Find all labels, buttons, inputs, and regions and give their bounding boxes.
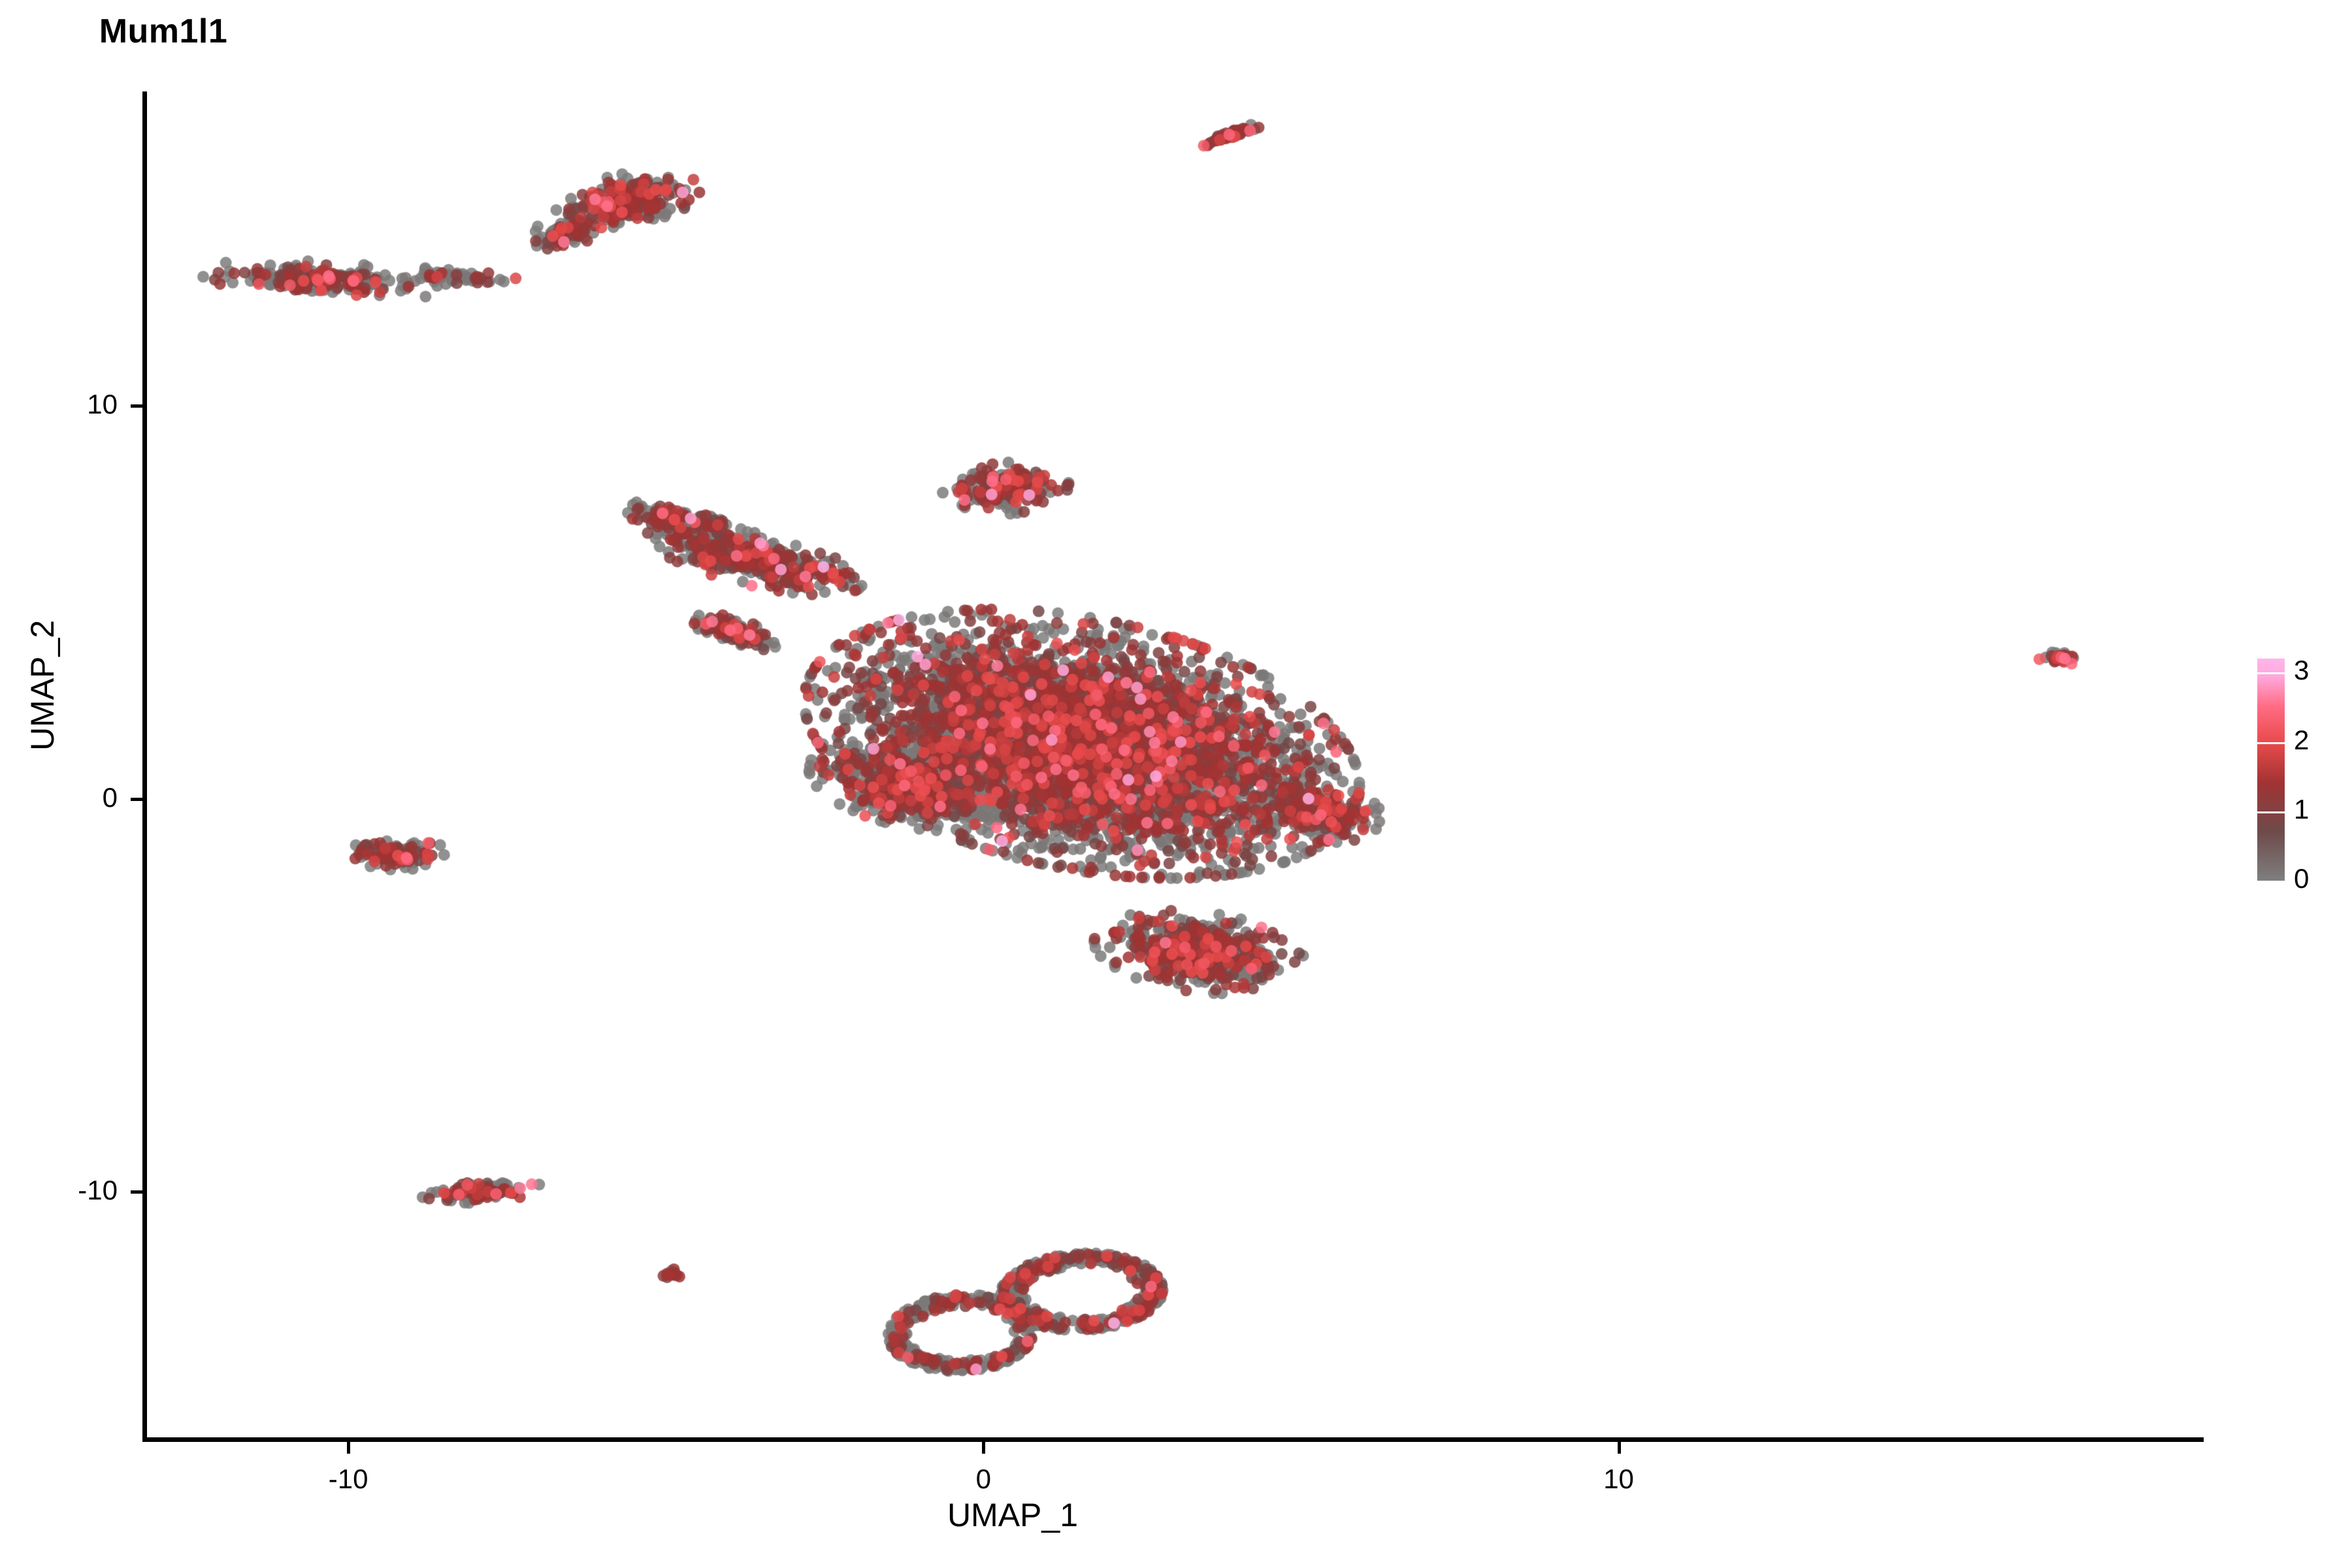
y-tick-mark — [131, 798, 142, 801]
x-tick-label: -10 — [270, 1463, 427, 1495]
plot-panel — [145, 91, 2203, 1439]
x-axis-title: UMAP_1 — [862, 1496, 1163, 1534]
colorbar-gradient — [2257, 659, 2285, 881]
x-axis-line — [142, 1437, 2204, 1442]
y-tick-mark — [131, 404, 142, 408]
y-axis-title: UMAP_2 — [24, 515, 61, 855]
page-title: Mum1l1 — [0, 12, 1339, 51]
colorbar-tick-mark — [2257, 811, 2285, 813]
x-tick-mark — [1618, 1442, 1621, 1454]
colorbar-tick-label: 0 — [2294, 865, 2309, 892]
colorbar-tick-label: 3 — [2294, 657, 2309, 684]
colorbar-tick-label: 1 — [2294, 796, 2309, 823]
y-tick-label: -10 — [0, 1175, 118, 1206]
colorbar-tick-mark — [2257, 742, 2285, 744]
colorbar-legend: 0123 — [2257, 659, 2349, 894]
colorbar-tick-mark — [2257, 672, 2285, 674]
umap-feature-plot: Mum1l1 -10010 -10010 UMAP_2 UMAP_1 0123 — [0, 0, 2352, 1568]
x-tick-mark — [347, 1442, 350, 1454]
x-tick-mark — [982, 1442, 985, 1454]
x-tick-label: 10 — [1541, 1463, 1697, 1495]
y-axis-line — [142, 91, 147, 1442]
y-tick-label: 10 — [0, 389, 118, 420]
colorbar-tick-label: 2 — [2294, 727, 2309, 754]
x-tick-label: 0 — [905, 1463, 1062, 1495]
scatter-points-canvas — [145, 91, 2203, 1439]
y-tick-mark — [131, 1190, 142, 1194]
